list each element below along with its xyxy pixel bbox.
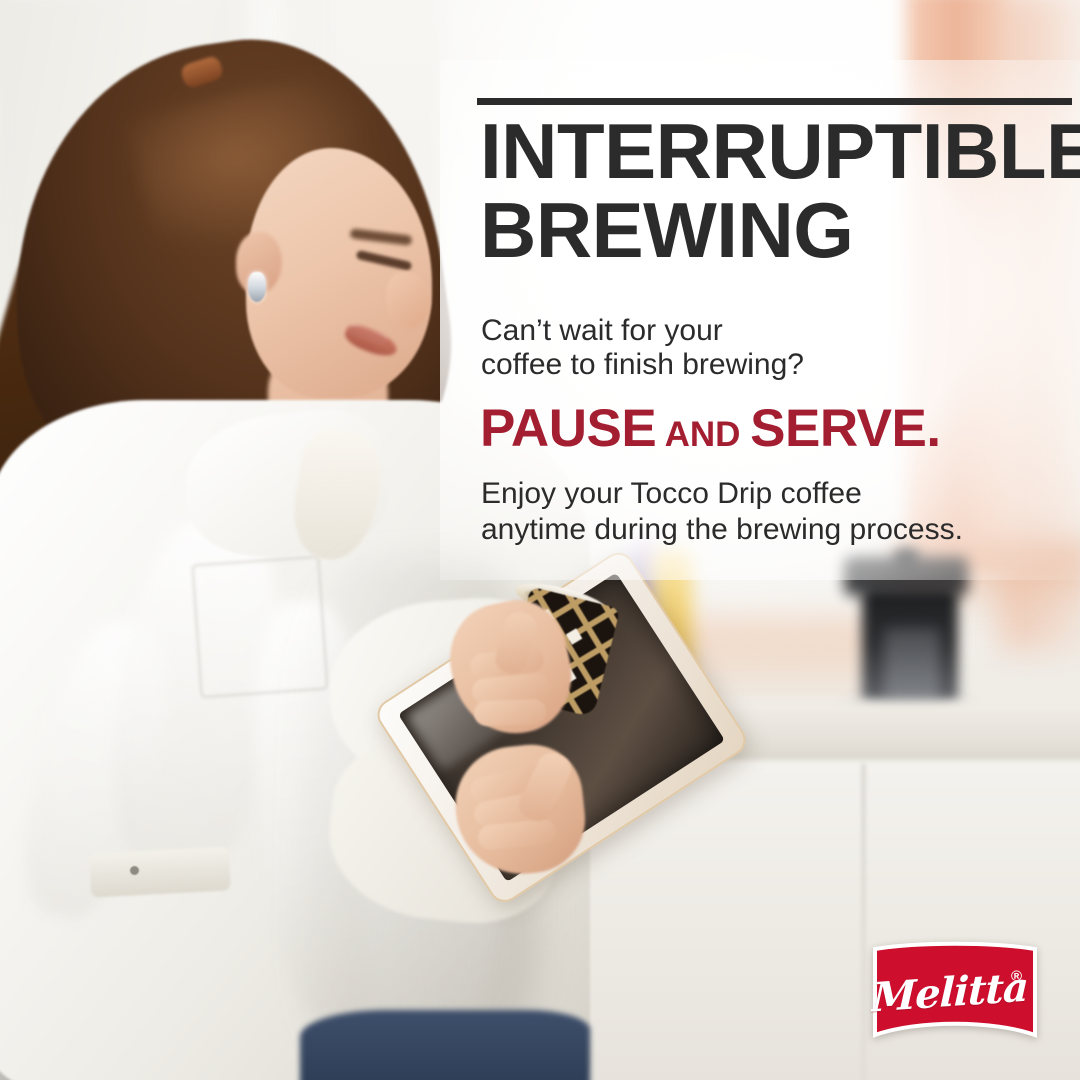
headline-line-2: BREWING [480,191,1040,270]
cuff-button [130,866,139,875]
shirt-cuff [89,846,231,897]
page-title: INTERRUPTIBLE BREWING [480,112,1040,270]
coffee-maker-carafe [884,628,940,708]
lead-line-1: Can’t wait for your [481,314,1001,348]
lead-line-2: coffee to finish brewing? [481,348,1001,382]
tail-line-1: Enjoy your Tocco Drip coffee [481,476,1021,512]
headline-rule [477,98,1072,105]
earring [248,272,266,302]
tagline-and: AND [656,415,750,454]
finger [474,699,547,726]
tagline: PAUSE AND SERVE. [480,398,1040,459]
tagline-serve: SERVE. [750,399,940,458]
nose [386,272,430,328]
logo-wordmark-wrap: Melitta [872,940,1038,1044]
supporting-copy: Enjoy your Tocco Drip coffee anytime dur… [481,476,1021,548]
ad-canvas: INTERRUPTIBLE BREWING Can’t wait for you… [0,0,1080,1080]
logo-wordmark: Melitta [871,963,1028,1021]
melitta-logo: Melitta ® [872,940,1038,1044]
jeans [300,1010,590,1080]
tail-line-2: anytime during the brewing process. [481,512,1021,548]
headline-line-1: INTERRUPTIBLE [480,112,1040,191]
cabinet-seam [862,764,865,1080]
lead-copy: Can’t wait for your coffee to finish bre… [481,314,1001,382]
registered-trademark-icon: ® [1011,968,1022,985]
tagline-pause: PAUSE [480,399,656,458]
